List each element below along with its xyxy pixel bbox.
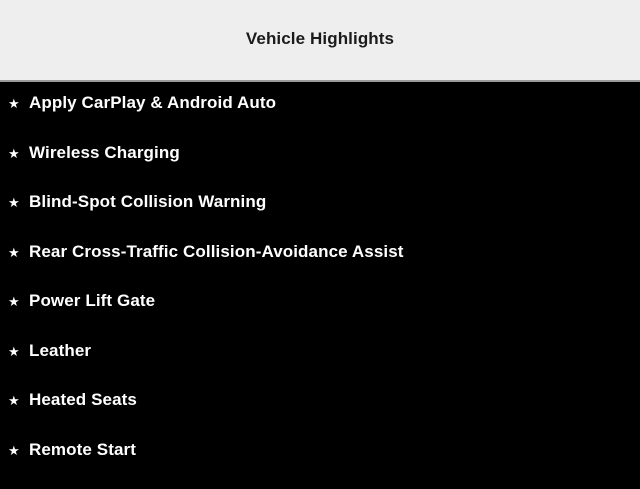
list-item-label: Heated Seats [29, 390, 137, 410]
list-item: ★ Leather [0, 341, 640, 391]
list-item: ★ Remote Start [0, 440, 640, 489]
star-icon: ★ [8, 441, 21, 461]
star-icon: ★ [8, 144, 21, 164]
list-item-label: Apply CarPlay & Android Auto [29, 93, 276, 113]
list-item-label: Remote Start [29, 440, 136, 460]
list-item-label: Rear Cross-Traffic Collision-Avoidance A… [29, 242, 404, 262]
list-item: ★ Power Lift Gate [0, 291, 640, 341]
star-icon: ★ [8, 342, 21, 362]
highlights-header: Vehicle Highlights [0, 0, 640, 80]
page-title: Vehicle Highlights [246, 29, 394, 49]
list-item-label: Leather [29, 341, 91, 361]
star-icon: ★ [8, 243, 21, 263]
list-item: ★ Heated Seats [0, 390, 640, 440]
list-item-label: Power Lift Gate [29, 291, 155, 311]
list-item: ★ Wireless Charging [0, 143, 640, 193]
highlights-list: ★ Apply CarPlay & Android Auto ★ Wireles… [0, 82, 640, 480]
list-item: ★ Rear Cross-Traffic Collision-Avoidance… [0, 242, 640, 292]
list-item: ★ Apply CarPlay & Android Auto [0, 93, 640, 143]
list-item-label: Blind-Spot Collision Warning [29, 192, 266, 212]
star-icon: ★ [8, 391, 21, 411]
list-item-label: Wireless Charging [29, 143, 180, 163]
list-item: ★ Blind-Spot Collision Warning [0, 192, 640, 242]
star-icon: ★ [8, 292, 21, 312]
vehicle-highlights-panel: Vehicle Highlights ★ Apply CarPlay & And… [0, 0, 640, 480]
star-icon: ★ [8, 94, 21, 114]
star-icon: ★ [8, 193, 21, 213]
